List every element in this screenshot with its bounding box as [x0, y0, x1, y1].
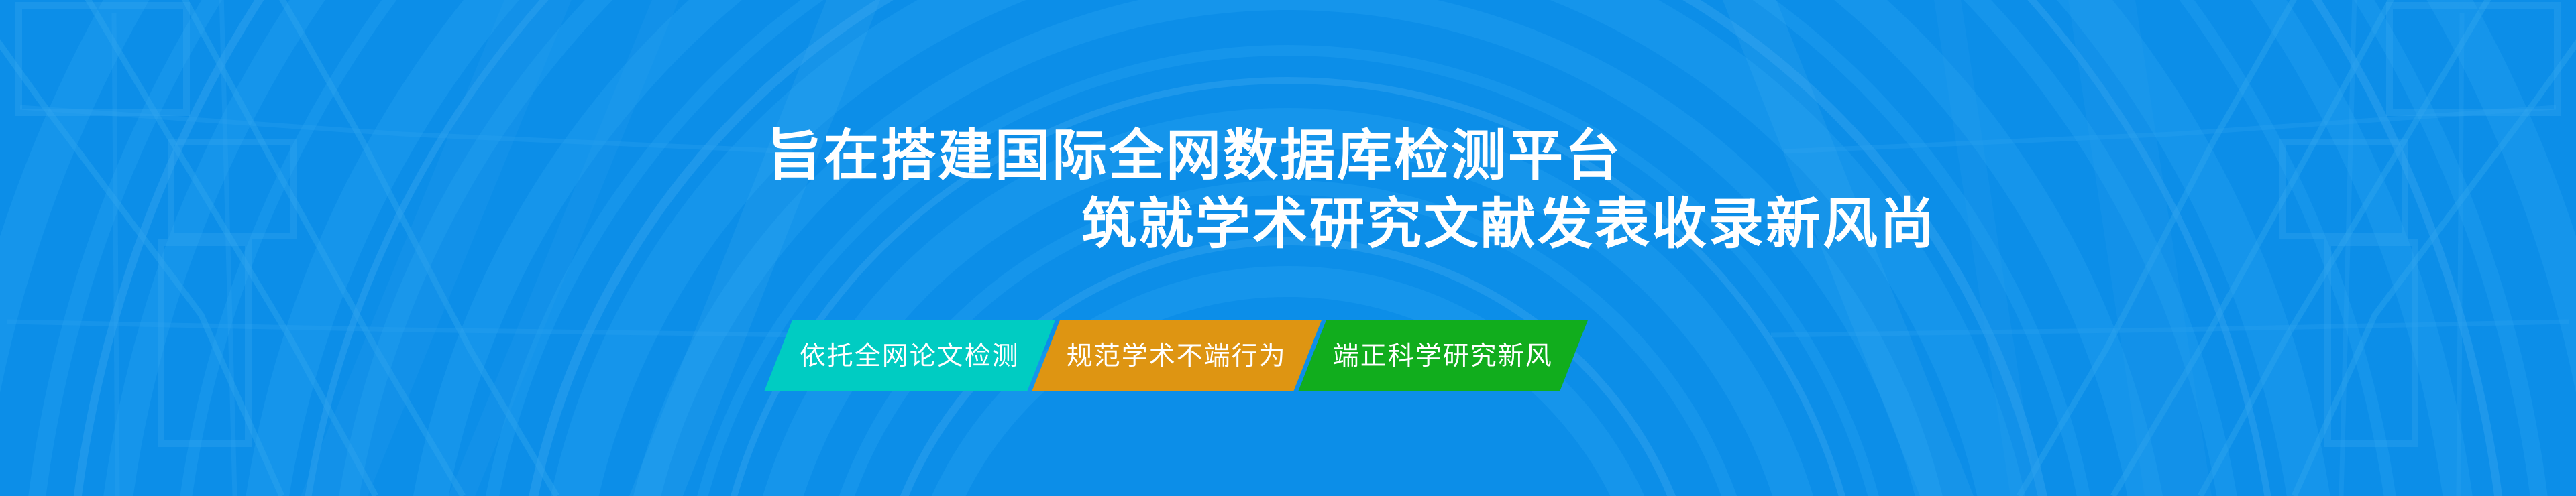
feature-tab-label: 依托全网论文检测	[767, 343, 1052, 369]
promo-banner: 旨在搭建国际全网数据库检测平台 筑就学术研究文献发表收录新风尚 依托全网论文检测…	[0, 0, 2576, 496]
feature-tab-strip: 依托全网论文检测 规范学术不端行为 端正科学研究新风	[778, 320, 1574, 391]
headline-block: 旨在搭建国际全网数据库检测平台 筑就学术研究文献发表收录新风尚	[0, 122, 2576, 259]
feature-tab-paper-detection[interactable]: 依托全网论文检测	[764, 320, 1055, 391]
feature-tab-research-ethos[interactable]: 端正科学研究新风	[1298, 320, 1588, 391]
headline-line-1: 旨在搭建国际全网数据库检测平台	[767, 122, 2576, 190]
headline-line-2: 筑就学术研究文献发表收录新风尚	[1081, 190, 2576, 259]
feature-tab-label: 规范学术不端行为	[1034, 343, 1319, 369]
feature-tab-academic-misconduct[interactable]: 规范学术不端行为	[1032, 320, 1322, 391]
feature-tab-label: 端正科学研究新风	[1301, 343, 1585, 369]
